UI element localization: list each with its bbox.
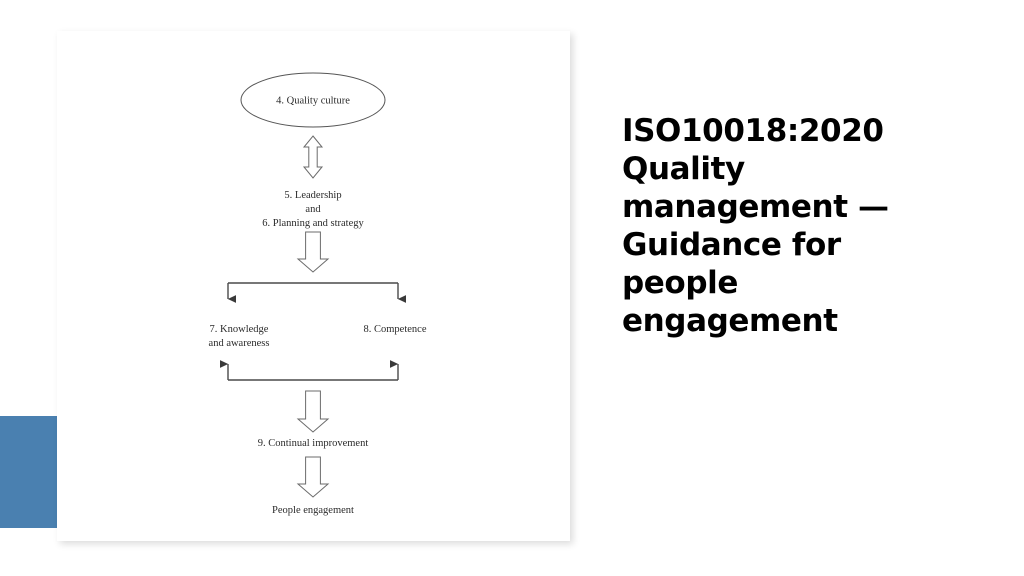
knowledge-label-line1: 7. Knowledge bbox=[210, 324, 269, 335]
knowledge-label-line2: and awareness bbox=[209, 338, 270, 349]
people-engagement-flowchart: 4. Quality culture 5. Leadership and 6. … bbox=[57, 31, 570, 541]
people-engagement-label: People engagement bbox=[272, 505, 354, 516]
down-block-arrow-icon-3 bbox=[298, 457, 328, 497]
diagram-card: 4. Quality culture 5. Leadership and 6. … bbox=[57, 31, 570, 541]
accent-block bbox=[0, 416, 58, 528]
leadership-label-line2: and bbox=[305, 204, 321, 215]
quality-culture-label: 4. Quality culture bbox=[276, 96, 350, 107]
down-block-arrow-icon-1 bbox=[298, 232, 328, 272]
competence-label: 8. Competence bbox=[364, 324, 427, 335]
planning-strategy-label: 6. Planning and strategy bbox=[262, 218, 364, 229]
double-headed-arrow-icon bbox=[304, 136, 322, 178]
down-block-arrow-icon-2 bbox=[298, 391, 328, 432]
slide-title: ISO10018:2020 Quality management — Guida… bbox=[622, 112, 952, 340]
continual-improvement-label: 9. Continual improvement bbox=[258, 438, 369, 449]
leadership-label-line1: 5. Leadership bbox=[284, 190, 341, 201]
